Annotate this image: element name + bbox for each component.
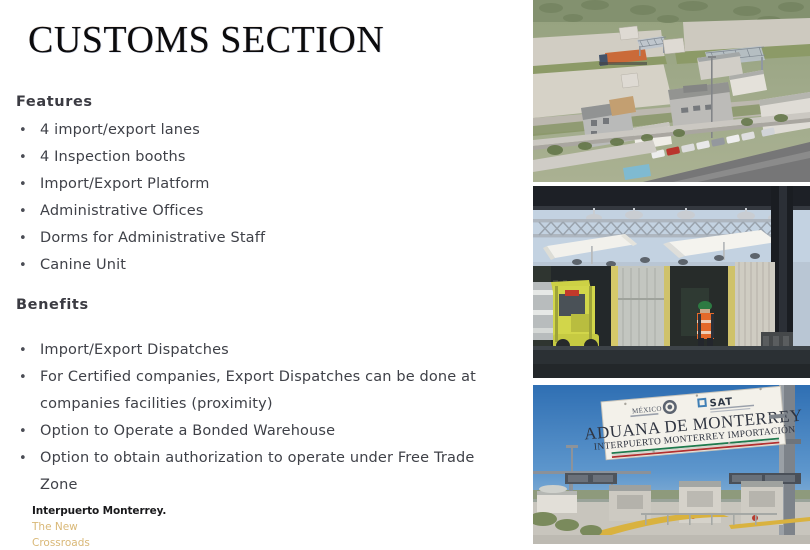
bullet-icon: • [19, 418, 29, 445]
list-item: • Dorms for Administrative Staff [0, 225, 500, 252]
page-title: CUSTOMS SECTION [28, 18, 384, 62]
gate-photo-graphic: MÉXICO SAT ADUANA DE MONTERREY INTERPUER… [533, 385, 810, 544]
list-item: • Administrative Offices [0, 198, 500, 225]
photo-customs-gate-sign: MÉXICO SAT ADUANA DE MONTERREY INTERPUER… [533, 385, 810, 544]
bullet-icon: • [19, 225, 29, 252]
list-item-label: Dorms for Administrative Staff [40, 230, 265, 246]
list-item: • Import/Export Dispatches [0, 337, 500, 364]
list-item-label: Option to obtain authorization to operat… [40, 450, 474, 493]
bullet-icon: • [19, 445, 29, 472]
list-item: • Option to Operate a Bonded Warehouse [0, 418, 500, 445]
list-item: • 4 import/export lanes [0, 117, 500, 144]
brand-name: Interpuerto Monterrey. [32, 505, 262, 518]
list-item: • For Certified companies, Export Dispat… [0, 364, 500, 418]
photo-aerial-customs-facility [533, 0, 810, 182]
bullet-icon: • [19, 117, 29, 144]
bullet-icon: • [19, 144, 29, 171]
list-item: • Import/Export Platform [0, 171, 500, 198]
list-item: • Canine Unit [0, 252, 500, 279]
list-item-label: Import/Export Dispatches [40, 342, 229, 358]
content-column: CUSTOMS SECTION Features • 4 import/expo… [0, 0, 533, 544]
bullet-icon: • [19, 364, 29, 391]
list-item-label: Option to Operate a Bonded Warehouse [40, 423, 335, 439]
list-item-label: Administrative Offices [40, 203, 204, 219]
list-item-label: Import/Export Platform [40, 176, 210, 192]
bullet-icon: • [19, 198, 29, 225]
bullet-icon: • [19, 337, 29, 364]
photo-column: MÉXICO SAT ADUANA DE MONTERREY INTERPUER… [533, 0, 810, 544]
list-item-label: Canine Unit [40, 257, 126, 273]
list-item-label: 4 Inspection booths [40, 149, 186, 165]
photo-inspection-dock [533, 186, 810, 378]
benefits-list: • Import/Export Dispatches • For Certifi… [0, 337, 500, 499]
aerial-photo-graphic [533, 0, 810, 182]
list-item: • Option to obtain authorization to oper… [0, 445, 500, 499]
list-item-label: 4 import/export lanes [40, 122, 200, 138]
bullet-icon: • [19, 171, 29, 198]
footer-logo: Interpuerto Monterrey. The New Crossroad… [32, 505, 262, 550]
bullet-icon: • [19, 252, 29, 279]
list-item: • 4 Inspection booths [0, 144, 500, 171]
brand-tagline-line1: The New [32, 521, 262, 534]
list-item-label: For Certified companies, Export Dispatch… [40, 369, 476, 412]
features-list: • 4 import/export lanes • 4 Inspection b… [0, 117, 500, 279]
slide-root: CUSTOMS SECTION Features • 4 import/expo… [0, 0, 810, 544]
benefits-heading: Benefits [16, 297, 89, 313]
features-heading: Features [16, 94, 93, 110]
dock-photo-graphic [533, 186, 810, 378]
